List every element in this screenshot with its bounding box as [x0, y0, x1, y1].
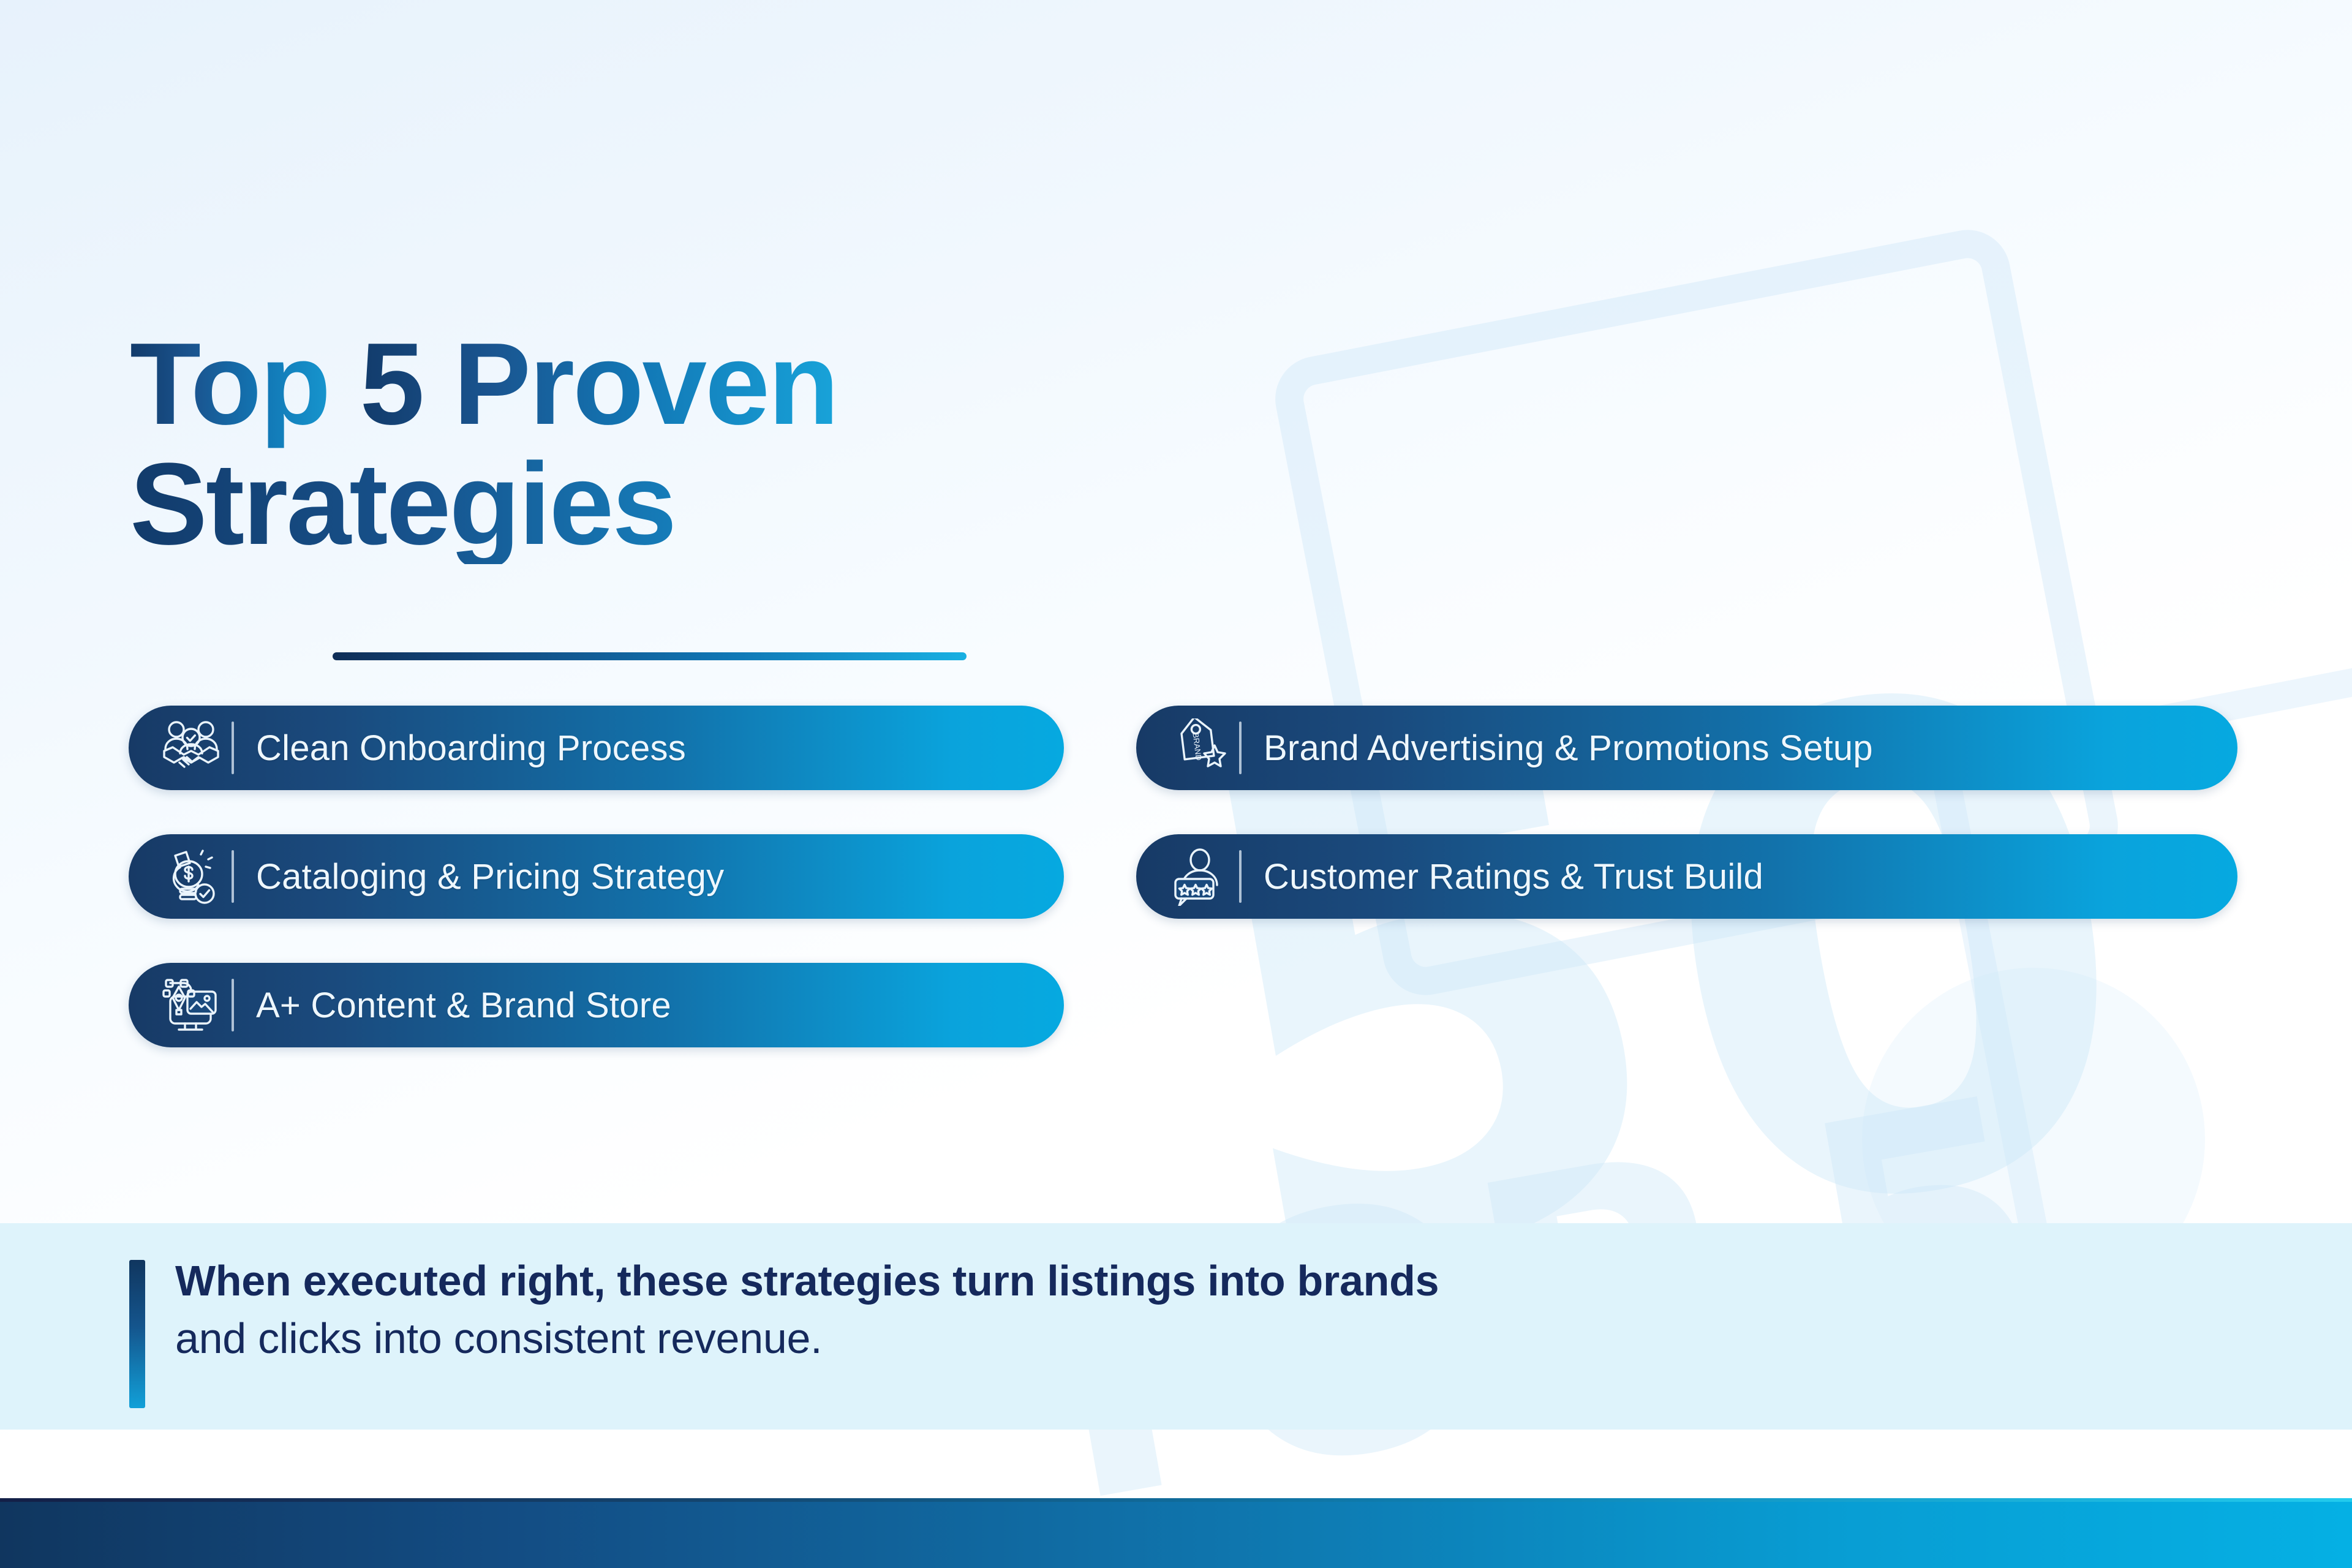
pill-divider — [232, 850, 234, 903]
pill-divider — [232, 722, 234, 774]
banner-line-1: When executed right, these strategies tu… — [175, 1253, 1439, 1310]
bottom-accent-bar — [0, 1502, 2352, 1568]
people-handshake-icon — [154, 718, 228, 777]
banner-accent-bar — [129, 1260, 145, 1408]
strategy-label: Cataloging & Pricing Strategy — [256, 856, 724, 897]
brand-price-tag-icon: BRAND — [1162, 718, 1235, 777]
closing-statement-banner: When executed right, these strategies tu… — [0, 1223, 2352, 1430]
pill-divider — [1239, 850, 1242, 903]
pill-divider — [1239, 722, 1242, 774]
strategy-pill-aplus-content[interactable]: A+ Content & Brand Store — [129, 963, 1064, 1047]
money-coins-check-icon — [154, 847, 228, 906]
strategy-pill-brand-advertising[interactable]: BRAND Brand Advertising & Promotions Set… — [1136, 706, 2237, 790]
page-title-top: Top — [130, 319, 360, 449]
strategy-pill-clean-onboarding[interactable]: Clean Onboarding Process — [129, 706, 1064, 790]
strategy-pill-customer-ratings[interactable]: Customer Ratings & Trust Build — [1136, 834, 2237, 919]
strategy-label: Customer Ratings & Trust Build — [1264, 856, 1763, 897]
strategy-label: Brand Advertising & Promotions Setup — [1264, 728, 1873, 769]
page-title-line-1: Top 5 Proven — [130, 325, 837, 445]
title-underline-rule — [333, 652, 967, 660]
page-title-line-2: Strategies — [130, 445, 837, 565]
strategy-label: A+ Content & Brand Store — [256, 985, 671, 1026]
infographic-canvas: 5 0 TOP 5 Top 5 Proven Strategies Clea — [0, 0, 2352, 1568]
monitor-image-pen-icon — [154, 976, 228, 1035]
banner-text: When executed right, these strategies tu… — [175, 1253, 1439, 1368]
banner-line-2: and clicks into consistent revenue. — [175, 1310, 1439, 1368]
page-title: Top 5 Proven Strategies — [130, 325, 837, 564]
svg-text:BRAND: BRAND — [1191, 732, 1203, 761]
strategy-label: Clean Onboarding Process — [256, 728, 686, 769]
customer-rating-stars-icon — [1162, 847, 1235, 906]
strategy-pill-cataloging-pricing[interactable]: Cataloging & Pricing Strategy — [129, 834, 1064, 919]
page-title-five-proven: 5 Proven — [360, 319, 837, 449]
pill-divider — [232, 979, 234, 1031]
